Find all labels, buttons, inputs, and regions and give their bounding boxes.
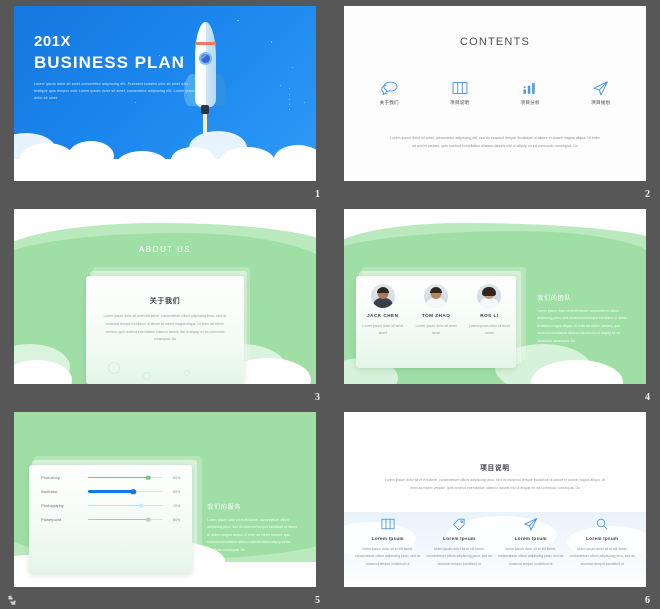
about-card-stack: 关于我们 Lorem ipsum dolor sit amet elit lam…: [86, 267, 243, 384]
bar-chart-icon: [495, 76, 566, 96]
skills-card-stack: Photoshop 80% Illustrator: [29, 456, 192, 573]
skill-label: Photography: [41, 503, 88, 508]
skill-list: Photoshop 80% Illustrator: [29, 465, 192, 522]
decor-circle: [108, 362, 120, 374]
slide-skills[interactable]: Photoshop 80% Illustrator: [14, 412, 316, 587]
team-member-1[interactable]: JACK CHEN Lorem ipsum dolor sit amet lam…: [359, 284, 407, 337]
slide-project-description[interactable]: 项目说明 Lorem ipsum dolor sit et elit lamet…: [344, 412, 646, 587]
project-column-4-label: Lorem Ipsum: [568, 536, 637, 541]
content-item-3-label: 项目分析: [495, 100, 566, 106]
skills-text-block: 我们的服务 Lorem ipsum dolor sit et elit lame…: [207, 502, 301, 554]
book-columns-icon: [353, 516, 422, 532]
team-text-block: 我们的团队 Lorem ipsum dolor sit et elit lame…: [537, 293, 631, 345]
cover-title-block: 201X BUSINESS PLAN Lorem ipsum dolor sit…: [34, 32, 199, 103]
project-column-2[interactable]: Lorem Ipsum lorem ipsum dolor sit et eli…: [425, 516, 494, 568]
skill-slider-track[interactable]: [88, 505, 163, 507]
team-member-2[interactable]: TOM ZHAO Lorem ipsum dolor sit amet lame…: [412, 284, 460, 337]
team-card[interactable]: JACK CHEN Lorem ipsum dolor sit amet lam…: [356, 276, 516, 368]
contents-title: CONTENTS: [344, 36, 646, 48]
skill-row-photography[interactable]: Photography 70%: [41, 503, 180, 508]
skills-card[interactable]: Photoshop 80% Illustrator: [29, 465, 192, 573]
slide-team[interactable]: JACK CHEN Lorem ipsum dolor sit amet lam…: [344, 209, 646, 384]
skill-label: Photoshop: [41, 475, 88, 480]
slide-cell-6[interactable]: 项目说明 Lorem ipsum dolor sit et elit lamet…: [330, 406, 660, 609]
slide-contents[interactable]: CONTENTS 关于我们: [344, 6, 646, 181]
skill-percent: 60%: [163, 490, 180, 494]
tag-icon: [425, 516, 494, 532]
project-column-3[interactable]: Lorem Ipsum lorem ipsum dolor sit et eli…: [496, 516, 565, 568]
team-member-1-desc: Lorem ipsum dolor sit amet lamet: [359, 323, 407, 337]
team-member-1-name: JACK CHEN: [359, 313, 407, 318]
skill-slider-knob: [131, 489, 136, 494]
skill-percent: 80%: [163, 476, 180, 480]
page-number: 2: [645, 189, 650, 200]
project-columns: Lorem Ipsum lorem ipsum dolor sit et eli…: [352, 516, 638, 568]
team-member-2-name: TOM ZHAO: [412, 313, 460, 318]
team-card-stack: JACK CHEN Lorem ipsum dolor sit amet lam…: [356, 267, 516, 368]
about-us-banner: ABOUT US: [14, 245, 316, 254]
paper-plane-icon: [566, 76, 637, 96]
puzzle-icon[interactable]: [4, 595, 16, 607]
skill-slider-fill: [88, 519, 148, 521]
slide-cell-2[interactable]: CONTENTS 关于我们: [330, 0, 660, 203]
project-column-2-text: lorem ipsum dolor sit et elit lamet, con…: [425, 546, 494, 568]
content-item-4-label: 项目规划: [566, 100, 637, 106]
team-member-2-desc: Lorem ipsum dolor sit amet lamet: [412, 323, 460, 337]
content-item-2-label: 项目说明: [425, 100, 496, 106]
project-column-1[interactable]: Lorem Ipsum lorem ipsum dolor sit et eli…: [353, 516, 422, 568]
page-number: 1: [315, 189, 320, 200]
contents-items: 关于我们 项目说明: [354, 76, 636, 106]
cover-year: 201X: [34, 32, 199, 52]
team-member-3-name: ROS LI: [465, 313, 513, 318]
team-title: 我们的团队: [537, 293, 631, 302]
skill-slider-track[interactable]: [88, 491, 163, 493]
rocket-nozzle: [201, 105, 209, 114]
skill-slider-fill: [88, 477, 148, 479]
decor-circle-small: [143, 372, 151, 380]
team-member-3[interactable]: ROS LI Lorem ipsum dolor sit amet lamet: [465, 284, 513, 337]
team-body: Lorem ipsum dolor sit et elit lamet, con…: [537, 308, 631, 345]
content-item-4[interactable]: 项目规划: [566, 76, 637, 106]
content-item-1[interactable]: 关于我们: [354, 76, 425, 106]
skill-slider-knob: [146, 517, 151, 522]
project-column-3-text: lorem ipsum dolor sit et elit lamet, con…: [496, 546, 565, 568]
skill-percent: 80%: [163, 518, 180, 522]
cover-subtext: Lorem ipsum dolor sit amet consectetur a…: [34, 81, 199, 102]
page-number: 3: [315, 392, 320, 403]
project-title: 项目说明: [344, 462, 646, 472]
slide-cell-4[interactable]: JACK CHEN Lorem ipsum dolor sit amet lam…: [330, 203, 660, 406]
project-column-3-label: Lorem Ipsum: [496, 536, 565, 541]
skill-slider-knob: [139, 503, 144, 508]
skill-row-powerpoint[interactable]: Powerpoint 80%: [41, 517, 180, 522]
skill-row-photoshop[interactable]: Photoshop 80%: [41, 475, 180, 480]
skills-title: 我们的服务: [207, 502, 301, 511]
skill-percent: 70%: [163, 504, 180, 508]
book-columns-icon: [425, 76, 496, 96]
cloud-band: [14, 119, 316, 181]
avatar: [371, 284, 395, 308]
skill-slider-track[interactable]: [88, 477, 163, 479]
search-icon: [568, 516, 637, 532]
team-members: JACK CHEN Lorem ipsum dolor sit amet lam…: [356, 276, 516, 337]
slide-cell-5[interactable]: Photoshop 80% Illustrator: [0, 406, 330, 609]
project-column-4[interactable]: Lorem Ipsum lorem ipsum dolor sit et eli…: [568, 516, 637, 568]
content-item-1-label: 关于我们: [354, 100, 425, 106]
skills-body: Lorem ipsum dolor sit et elit lamet, con…: [207, 517, 301, 554]
avatar: [477, 284, 501, 308]
content-item-3[interactable]: 项目分析: [495, 76, 566, 106]
chat-bubble-icon: [354, 76, 425, 96]
skill-slider-fill: [88, 490, 133, 492]
content-item-2[interactable]: 项目说明: [425, 76, 496, 106]
page-number: 4: [645, 392, 650, 403]
decor-dot: [184, 370, 190, 376]
paper-plane-icon: [496, 516, 565, 532]
skill-label: Illustrator: [41, 489, 88, 494]
project-column-4-text: lorem ipsum dolor sit et elit lamet, con…: [568, 546, 637, 568]
skill-slider-knob: [146, 475, 151, 480]
slide-about-us[interactable]: ABOUT US 关于我们 Lorem ipsum dolor sit amet…: [14, 209, 316, 384]
slide-deck: 201X BUSINESS PLAN Lorem ipsum dolor sit…: [0, 0, 660, 609]
skill-slider-track[interactable]: [88, 519, 163, 521]
project-column-2-label: Lorem Ipsum: [425, 536, 494, 541]
skill-row-illustrator[interactable]: Illustrator 60%: [41, 489, 180, 494]
project-lead-text: Lorem ipsum dolor sit et elit lamet, con…: [384, 476, 606, 492]
about-card[interactable]: 关于我们 Lorem ipsum dolor sit amet elit lam…: [86, 276, 243, 384]
team-member-3-desc: Lorem ipsum dolor sit amet lamet: [465, 323, 513, 337]
skill-slider-fill: [88, 505, 141, 507]
page-number: 5: [315, 595, 320, 606]
slide-cover[interactable]: 201X BUSINESS PLAN Lorem ipsum dolor sit…: [14, 6, 316, 181]
about-card-title: 关于我们: [102, 296, 227, 306]
page-number: 6: [645, 595, 650, 606]
contents-body-text: Lorem ipsum dolor sit amet, consectetur …: [390, 134, 600, 151]
slide-cell-1[interactable]: 201X BUSINESS PLAN Lorem ipsum dolor sit…: [0, 0, 330, 203]
cover-headline: BUSINESS PLAN: [34, 52, 199, 75]
project-column-1-label: Lorem Ipsum: [353, 536, 422, 541]
about-card-body: Lorem ipsum dolor sit amet elit lamet, c…: [102, 313, 227, 344]
skill-label: Powerpoint: [41, 517, 88, 522]
slide-cell-3[interactable]: ABOUT US 关于我们 Lorem ipsum dolor sit amet…: [0, 203, 330, 406]
avatar: [424, 284, 448, 308]
project-column-1-text: lorem ipsum dolor sit et elit lamet, con…: [353, 546, 422, 568]
